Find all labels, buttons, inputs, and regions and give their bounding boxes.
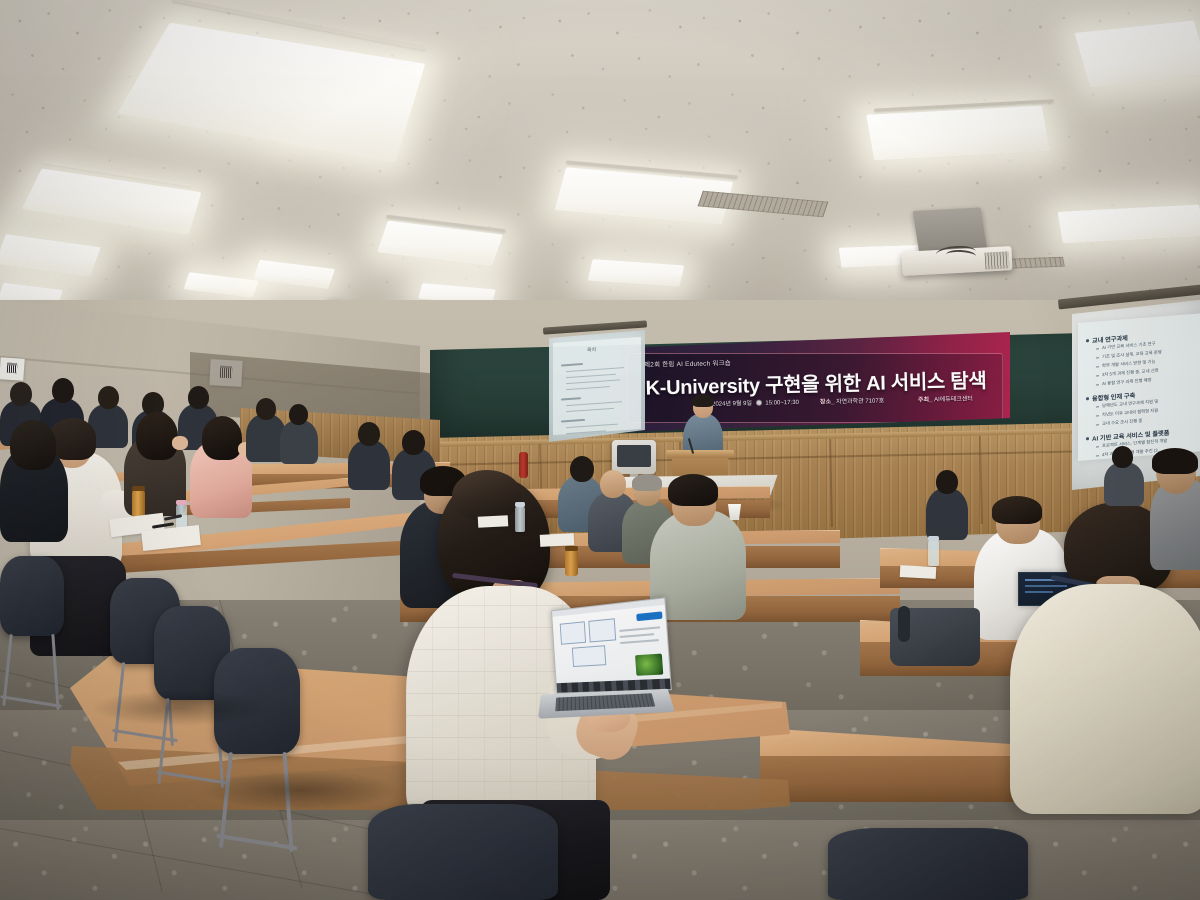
attendee-body	[926, 488, 968, 540]
wood-panel-line	[979, 436, 982, 524]
chair-shadow	[200, 770, 400, 810]
chair[interactable]	[0, 556, 64, 636]
attendee-white-shirt-hair	[992, 496, 1042, 524]
attendee-head	[570, 456, 594, 482]
attendee-head	[289, 404, 308, 425]
laptop-text-line	[620, 633, 654, 638]
clock-icon	[756, 400, 762, 406]
banner-meta-place: 장소_ 자연과학관 7107호	[820, 395, 884, 405]
ceiling-light-panel	[866, 106, 1050, 161]
attendee-body	[280, 420, 318, 464]
bottle-cap	[176, 500, 187, 505]
attendee-head	[10, 382, 32, 406]
attendee-body	[348, 440, 390, 490]
slide-line	[566, 424, 618, 429]
slide-line	[561, 397, 581, 400]
slide-bullet: 교내 수요 조사 진행 중	[1102, 418, 1142, 427]
slide-bullet: 차년도 이후 교내외 협력형 지원	[1102, 408, 1158, 418]
laptop-diagram-box	[560, 621, 586, 644]
attendee-gray-hair	[632, 474, 662, 491]
right-slide: 교내 연구과제 AI 기반 교육 서비스 기초 연구 기초 및 조사 설계, 교…	[1078, 313, 1200, 461]
paper-cup	[728, 504, 741, 520]
chair[interactable]	[828, 828, 1028, 900]
speaker-hair	[692, 394, 714, 407]
podium-top	[666, 450, 734, 458]
bullet-icon	[1086, 437, 1089, 440]
chair[interactable]	[368, 804, 558, 900]
wood-panel-line	[829, 439, 832, 527]
laptop-accent-button[interactable]	[636, 611, 662, 621]
laptop-text-line	[620, 639, 659, 644]
attendee-hair	[136, 412, 178, 460]
slide-bullet: AI 융합 연구 과제 진행 예정	[1102, 377, 1152, 387]
floor-seam	[0, 828, 374, 895]
attendee-head	[1112, 446, 1133, 468]
paper-handout	[900, 565, 937, 579]
av-cart-screen	[617, 445, 651, 467]
water-bottle	[515, 506, 525, 532]
banner-subtitle: 제2회 한림 AI Edutech 워크숍	[644, 357, 731, 369]
bottle-cap	[515, 502, 525, 507]
left-slide-title: 목차	[587, 346, 596, 354]
attendee-head	[600, 470, 626, 498]
slide-line	[566, 386, 610, 390]
banner-meta-date-value: 2024년 9월 9일	[712, 401, 752, 408]
lecture-hall-photo: 제2회 한림 AI Edutech 워크숍 K-University 구현을 위…	[0, 0, 1200, 900]
attendee-pink-hair	[202, 416, 242, 460]
dash-icon	[1096, 366, 1099, 367]
dash-icon	[1096, 446, 1099, 447]
laptop-diagram-box	[588, 618, 616, 642]
bullet-icon	[1086, 397, 1089, 400]
dash-icon	[1096, 455, 1099, 456]
slide-line	[561, 363, 583, 366]
chair-shadow	[90, 690, 270, 726]
attendee-head	[936, 470, 958, 494]
wall-notice-left	[0, 357, 25, 381]
attendee-gray-hair-right	[1152, 448, 1198, 474]
dash-icon	[1096, 348, 1099, 349]
laptop-diagram-box	[572, 645, 606, 667]
attendee-head	[98, 386, 119, 409]
left-projection-screen: 목차	[545, 330, 645, 442]
bottle-cap	[565, 546, 578, 551]
slide-line	[566, 374, 616, 378]
attendee-head	[358, 422, 380, 446]
laptop-screen[interactable]	[551, 597, 672, 693]
attendee-head	[402, 430, 425, 455]
dash-icon	[1096, 375, 1099, 376]
laptop-right-content-line	[1025, 591, 1053, 593]
notice-qr-icon	[7, 363, 18, 374]
bullet-icon	[1086, 339, 1089, 342]
dash-icon	[1096, 406, 1099, 407]
banner-meta-time: 15:00~17:30	[765, 400, 799, 407]
laptop-right-content-line	[1025, 585, 1067, 587]
slide-line	[566, 367, 624, 372]
tea-bottle	[132, 490, 145, 518]
tea-bottle	[565, 550, 578, 576]
slide-line	[566, 430, 606, 434]
banner-meta-place-key: 장소_	[820, 399, 835, 405]
slide-line	[566, 408, 614, 412]
paper-handout	[478, 515, 509, 528]
projector-vent	[985, 251, 1010, 269]
laptop-user-hair-bun	[452, 470, 522, 522]
attendee-olive-hair	[668, 474, 718, 506]
bottle-cap	[132, 486, 145, 491]
laptop-thumbnail-image	[635, 654, 663, 676]
laptop-text-line	[619, 626, 660, 632]
attendee-head	[52, 378, 74, 403]
attendee-cream-body	[1010, 584, 1200, 814]
attendee-body	[1104, 462, 1144, 506]
fire-extinguisher	[519, 452, 528, 478]
slide-line	[566, 379, 620, 384]
dash-icon	[1096, 384, 1099, 385]
attendee-head	[256, 398, 276, 420]
banner-meta-host-value: AI에듀테크센터	[934, 396, 973, 403]
bottle-cap	[928, 536, 939, 541]
ceiling-light-panel	[1074, 20, 1200, 87]
attendee-hand-on-chin	[172, 436, 188, 450]
attendee-hair	[10, 420, 56, 470]
dash-icon	[1096, 357, 1099, 358]
banner-meta-place-value: 자연과학관 7107호	[836, 398, 884, 405]
slide-line	[566, 401, 622, 406]
dash-icon	[1096, 424, 1099, 425]
paper-handout	[540, 533, 575, 547]
left-slide: 목차	[553, 337, 641, 435]
water-bottle	[928, 540, 939, 566]
backpack-strap	[898, 606, 910, 642]
banner-meta-host-key: 주최_	[918, 397, 933, 403]
slide-line	[561, 419, 585, 422]
event-banner: 제2회 한림 AI Edutech 워크숍 K-University 구현을 위…	[620, 332, 1010, 432]
attendee-head	[188, 386, 209, 409]
dash-icon	[1096, 415, 1099, 416]
banner-meta-host: 주최_ AI에듀테크센터	[918, 393, 973, 403]
ceiling	[0, 0, 1200, 330]
